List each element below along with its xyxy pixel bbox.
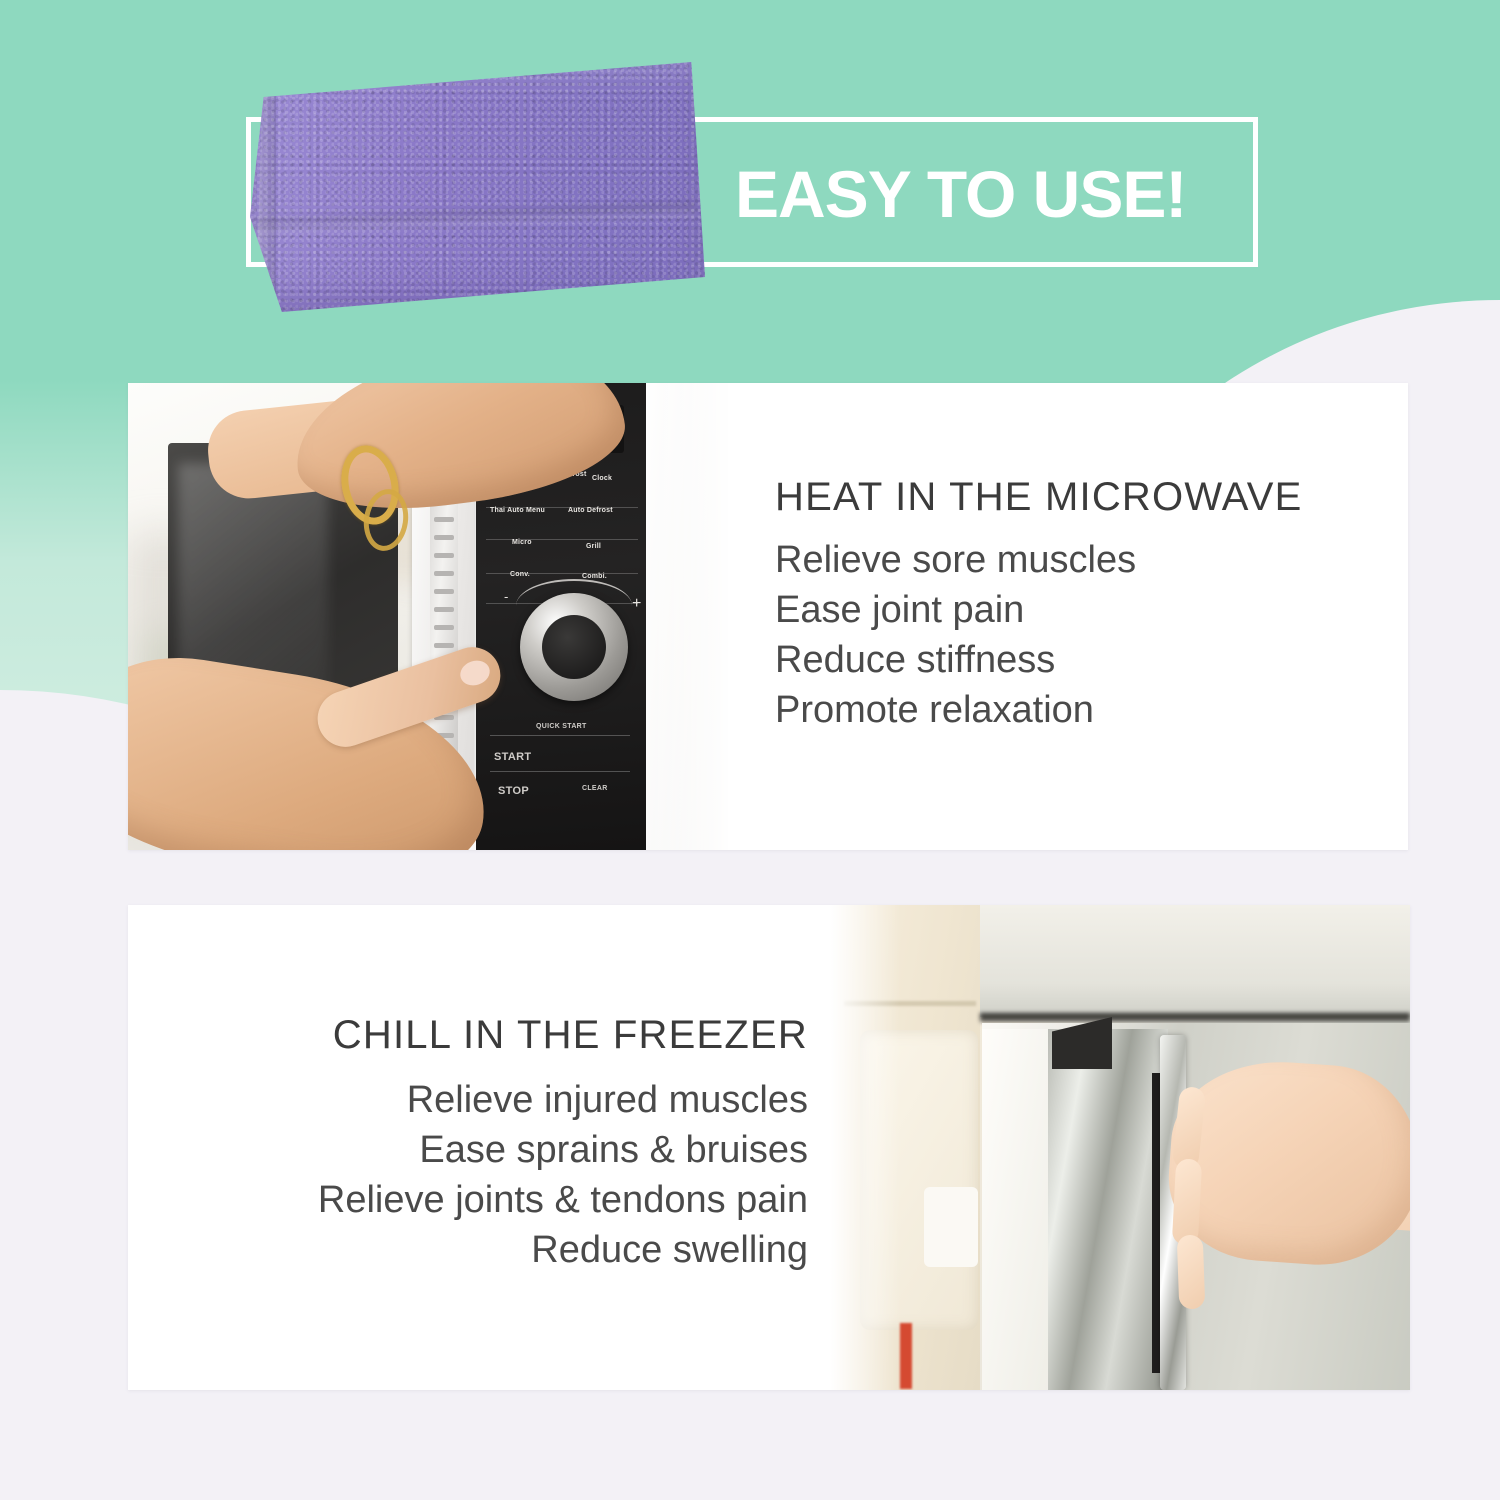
list-item: Ease joint pain xyxy=(775,585,1375,635)
section-card-freezer: CHILL IN THE FREEZER Relieve injured mus… xyxy=(128,905,1410,1390)
finger xyxy=(1172,1158,1202,1245)
list-item: Relieve sore muscles xyxy=(775,535,1375,585)
hero-title: EASY TO USE! xyxy=(735,148,1255,240)
freezer-benefit-list: Relieve injured muscles Ease sprains & b… xyxy=(158,1075,808,1276)
list-item: Reduce stiffness xyxy=(775,635,1375,685)
microwave-section-title: HEAT IN THE MICROWAVE xyxy=(775,475,1375,519)
finger xyxy=(1177,1235,1206,1310)
panel-divider xyxy=(486,553,638,574)
panel-minus-label[interactable]: - xyxy=(504,589,508,604)
photo-white-fade xyxy=(830,905,900,1390)
list-item: Ease sprains & bruises xyxy=(158,1125,808,1175)
fleece-pad-shape xyxy=(250,62,705,312)
list-item: Relieve injured muscles xyxy=(158,1075,808,1125)
fridge-door-gap-shadow xyxy=(980,1013,1410,1022)
product-image-heating-pad xyxy=(250,62,710,317)
panel-button-conv[interactable]: Conv. xyxy=(510,571,530,578)
vent-slot xyxy=(434,643,454,648)
pad-fold-crease xyxy=(256,202,696,235)
panel-button-thai-auto-menu[interactable]: Thai Auto Menu xyxy=(490,507,545,514)
fridge-top-door xyxy=(980,905,1410,1017)
panel-button-micro[interactable]: Micro xyxy=(512,539,532,546)
red-object xyxy=(900,1323,912,1389)
infographic-page: EASY TO USE! xyxy=(0,0,1500,1500)
vent-slot xyxy=(434,553,454,558)
panel-button-quick-start[interactable]: QUICK START xyxy=(536,723,587,730)
panel-button-grill[interactable]: Grill xyxy=(586,543,601,550)
microwave-photo: Crispy Reheat Quick Defrost Clock Thai A… xyxy=(128,383,728,850)
fridge-chrome-edge xyxy=(1048,1029,1168,1390)
list-item: Reduce swelling xyxy=(158,1225,808,1275)
hero-banner: EASY TO USE! xyxy=(0,0,1500,380)
list-item: Promote relaxation xyxy=(775,685,1375,735)
panel-button-auto-defrost[interactable]: Auto Defrost xyxy=(568,507,613,514)
freezer-section-title: CHILL IN THE FREEZER xyxy=(158,1013,808,1057)
vent-slot xyxy=(434,517,454,522)
panel-button-clock[interactable]: Clock xyxy=(592,475,612,482)
fridge-door-frame xyxy=(982,1029,1050,1390)
microwave-dial-knob[interactable] xyxy=(520,593,628,701)
freezer-photo xyxy=(830,905,1410,1390)
panel-plus-label[interactable]: + xyxy=(632,595,641,613)
vent-slot xyxy=(434,607,454,612)
freezer-text-block: CHILL IN THE FREEZER Relieve injured mus… xyxy=(158,1013,808,1276)
photo-white-fade xyxy=(648,383,728,850)
panel-button-clear[interactable]: CLEAR xyxy=(582,785,608,792)
pad-seam xyxy=(254,78,276,300)
panel-divider xyxy=(486,519,638,540)
vent-slot xyxy=(434,571,454,576)
vent-slot xyxy=(434,625,454,630)
panel-divider xyxy=(490,771,630,772)
dial-knob-center xyxy=(542,615,606,679)
panel-button-start[interactable]: START xyxy=(494,751,531,763)
panel-button-stop[interactable]: STOP xyxy=(498,785,529,797)
vent-slot xyxy=(434,589,454,594)
white-container xyxy=(924,1187,978,1267)
microwave-benefit-list: Relieve sore muscles Ease joint pain Red… xyxy=(775,535,1375,736)
list-item: Relieve joints & tendons pain xyxy=(158,1175,808,1225)
microwave-text-block: HEAT IN THE MICROWAVE Relieve sore muscl… xyxy=(775,475,1375,736)
section-card-microwave: Crispy Reheat Quick Defrost Clock Thai A… xyxy=(128,383,1408,850)
vent-slot xyxy=(434,535,454,540)
panel-divider xyxy=(490,735,630,736)
